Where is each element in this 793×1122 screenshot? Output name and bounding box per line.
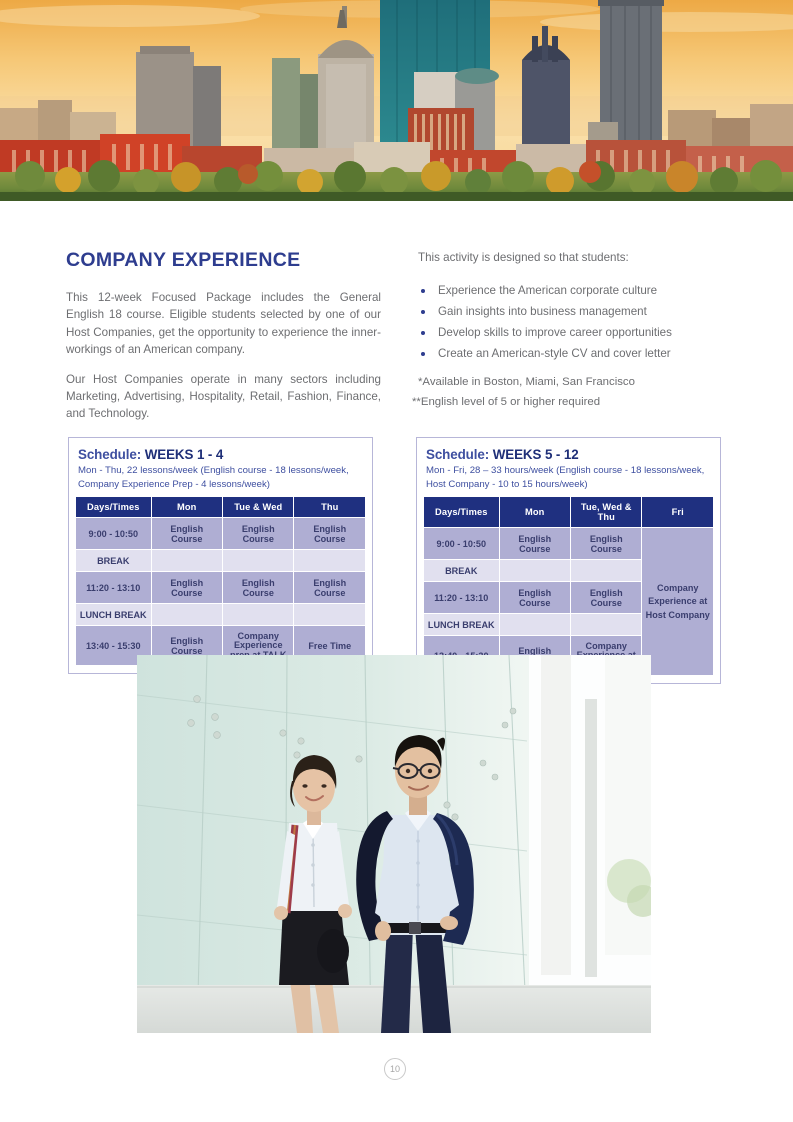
column-header-fri: Fri: [642, 497, 713, 527]
column-header-mon: Mon: [500, 497, 570, 527]
boston-skyline-illustration: [0, 0, 793, 201]
intro-paragraph-2: Our Host Companies operate in many secto…: [66, 371, 381, 423]
footnote-english-level: **English level of 5 or higher required: [412, 392, 738, 412]
benefits-list: Experience the American corporate cultur…: [418, 282, 738, 363]
page-number-badge: 10: [384, 1058, 406, 1080]
table-row: BREAK: [76, 550, 365, 571]
schedule-title: Schedule: WEEKS 5 - 12: [423, 445, 714, 463]
column-header-mon: Mon: [152, 497, 222, 517]
column-header-thu: Thu: [294, 497, 365, 517]
activity-cell: [223, 604, 293, 625]
activity-cell: [500, 560, 570, 581]
list-item: Gain insights into business management: [418, 303, 738, 321]
activity-cell: English Course: [500, 582, 570, 613]
right-column: This activity is designed so that studen…: [418, 249, 738, 412]
time-cell: 9:00 - 10:50: [76, 518, 151, 549]
lunch-break-cell: LUNCH BREAK: [76, 604, 151, 625]
activity-cell: English Course: [223, 518, 293, 549]
list-item: Develop skills to improve career opportu…: [418, 324, 738, 342]
time-cell: 11:20 - 13:10: [424, 582, 499, 613]
schedule-subtitle: Mon - Fri, 28 – 33 hours/week (English c…: [423, 463, 714, 496]
schedule-table-weeks-5-12: Days/Times Mon Tue, Wed & Thu Fri 9:00 -…: [423, 496, 714, 676]
activity-cell: [152, 604, 222, 625]
footnote-availability: *Available in Boston, Miami, San Francis…: [418, 372, 738, 392]
activity-cell: English Course: [294, 518, 365, 549]
list-item: Experience the American corporate cultur…: [418, 282, 738, 300]
table-row: 9:00 - 10:50 English Course English Cour…: [424, 528, 713, 559]
activity-cell: English Course: [571, 582, 641, 613]
schedule-title-prefix: Schedule:: [78, 447, 145, 462]
column-header-days-times: Days/Times: [424, 497, 499, 527]
break-cell: BREAK: [424, 560, 499, 581]
business-professionals-photo: [137, 655, 651, 1033]
column-header-tue-wed: Tue & Wed: [223, 497, 293, 517]
activity-cell: English Course: [152, 572, 222, 603]
activity-cell: English Course: [223, 572, 293, 603]
intro-paragraph-1: This 12-week Focused Package includes th…: [66, 289, 381, 359]
lunch-break-cell: LUNCH BREAK: [424, 614, 499, 635]
schedule-title-weeks: WEEKS 1 - 4: [145, 447, 224, 462]
schedule-subtitle: Mon - Thu, 22 lessons/week (English cour…: [75, 463, 366, 496]
schedule-title: Schedule: WEEKS 1 - 4: [75, 445, 366, 463]
schedule-card-weeks-1-4: Schedule: WEEKS 1 - 4 Mon - Thu, 22 less…: [68, 437, 373, 674]
column-header-tue-wed-thu: Tue, Wed & Thu: [571, 497, 641, 527]
activity-intro-line: This activity is designed so that studen…: [418, 249, 738, 266]
activity-cell: [500, 614, 570, 635]
time-cell: 9:00 - 10:50: [424, 528, 499, 559]
hero-banner-image: [0, 0, 793, 201]
page-number-text: 10: [390, 1064, 400, 1074]
table-row: 9:00 - 10:50 English Course English Cour…: [76, 518, 365, 549]
activity-cell: English Course: [294, 572, 365, 603]
schedule-title-weeks: WEEKS 5 - 12: [493, 447, 579, 462]
table-header-row: Days/Times Mon Tue & Wed Thu: [76, 497, 365, 517]
list-item: Create an American-style CV and cover le…: [418, 345, 738, 363]
activity-cell: English Course: [500, 528, 570, 559]
activity-cell: English Course: [152, 518, 222, 549]
activity-cell: [294, 604, 365, 625]
time-cell: 11:20 - 13:10: [76, 572, 151, 603]
activity-cell: [571, 614, 641, 635]
left-column: COMPANY EXPERIENCE This 12-week Focused …: [66, 249, 381, 435]
schedule-title-prefix: Schedule:: [426, 447, 493, 462]
table-header-row: Days/Times Mon Tue, Wed & Thu Fri: [424, 497, 713, 527]
break-cell: BREAK: [76, 550, 151, 571]
activity-cell: English Course: [571, 528, 641, 559]
activity-cell: [571, 560, 641, 581]
friday-merged-cell: Company Experience at Host Company: [642, 528, 713, 675]
page-title: COMPANY EXPERIENCE: [66, 249, 381, 272]
activity-cell: [294, 550, 365, 571]
activity-cell: [152, 550, 222, 571]
man-walking-illustration: [137, 655, 651, 1033]
schedule-table-weeks-1-4: Days/Times Mon Tue & Wed Thu 9:00 - 10:5…: [75, 496, 366, 666]
activity-cell: [223, 550, 293, 571]
schedule-card-weeks-5-12: Schedule: WEEKS 5 - 12 Mon - Fri, 28 – 3…: [416, 437, 721, 684]
column-header-days-times: Days/Times: [76, 497, 151, 517]
table-row: 11:20 - 13:10 English Course English Cou…: [76, 572, 365, 603]
table-row: LUNCH BREAK: [76, 604, 365, 625]
